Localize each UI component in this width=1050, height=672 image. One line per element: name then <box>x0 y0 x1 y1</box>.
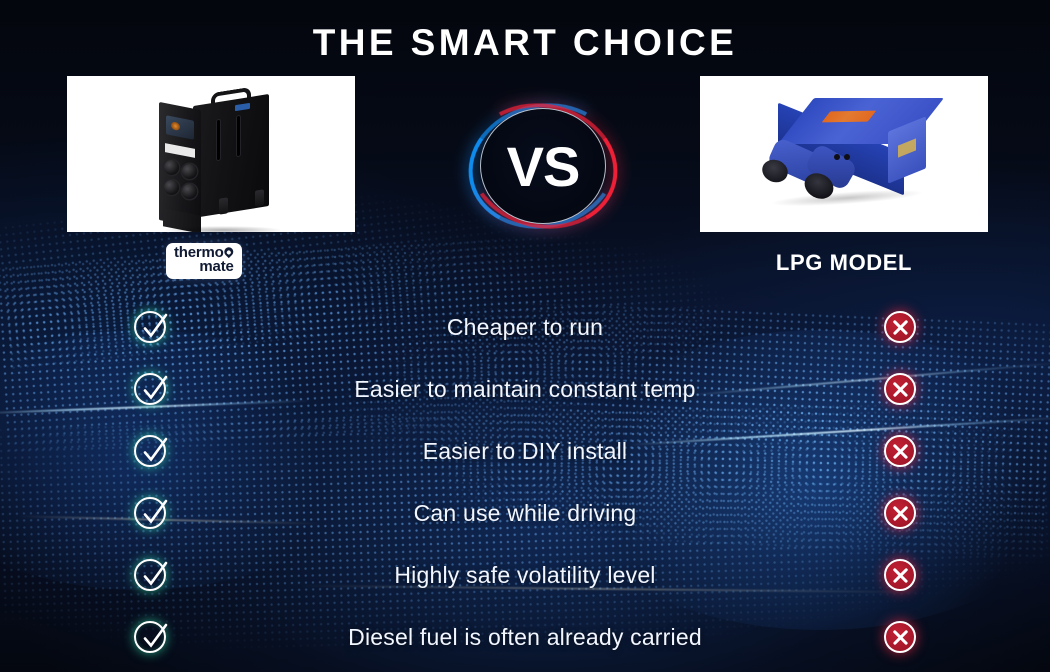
right-brand-label: LPG MODEL <box>700 250 988 276</box>
cross-circle-icon <box>884 435 916 467</box>
feature-label: Cheaper to run <box>300 314 750 341</box>
right-verdict-cell <box>750 435 1050 467</box>
comparison-row: Highly safe volatility level <box>0 544 1050 606</box>
comparison-row: Cheaper to run <box>0 296 1050 358</box>
versus-label: VS <box>480 108 606 224</box>
cross-circle-icon <box>884 373 916 405</box>
brand-line-2: mate <box>174 260 234 274</box>
feature-label: Can use while driving <box>300 500 750 527</box>
feature-label: Diesel fuel is often already carried <box>300 624 750 651</box>
comparison-row: Can use while driving <box>0 482 1050 544</box>
feature-label: Easier to maintain constant temp <box>300 376 750 403</box>
check-circle-icon <box>134 621 166 653</box>
cross-circle-icon <box>884 311 916 343</box>
left-brand-logo: thermo mate <box>166 243 242 279</box>
check-circle-icon <box>134 559 166 591</box>
check-circle-icon <box>134 311 166 343</box>
left-verdict-cell <box>0 311 300 343</box>
feature-label: Highly safe volatility level <box>300 562 750 589</box>
right-verdict-cell <box>750 559 1050 591</box>
diesel-heater-illustration <box>159 90 287 220</box>
check-circle-icon <box>134 373 166 405</box>
left-verdict-cell <box>0 373 300 405</box>
versus-badge: VS <box>468 98 618 232</box>
left-verdict-cell <box>0 497 300 529</box>
cross-circle-icon <box>884 621 916 653</box>
cross-circle-icon <box>884 497 916 529</box>
lpg-heater-illustration <box>760 98 940 214</box>
page-title: THE SMART CHOICE <box>0 22 1050 64</box>
right-verdict-cell <box>750 497 1050 529</box>
cross-circle-icon <box>884 559 916 591</box>
right-product-image <box>700 76 988 232</box>
left-verdict-cell <box>0 435 300 467</box>
comparison-row: Easier to maintain constant temp <box>0 358 1050 420</box>
check-circle-icon <box>134 497 166 529</box>
right-verdict-cell <box>750 373 1050 405</box>
left-verdict-cell <box>0 559 300 591</box>
left-verdict-cell <box>0 621 300 653</box>
right-verdict-cell <box>750 311 1050 343</box>
comparison-row: Diesel fuel is often already carried <box>0 606 1050 668</box>
feature-label: Easier to DIY install <box>300 438 750 465</box>
left-product-image <box>67 76 355 232</box>
right-verdict-cell <box>750 621 1050 653</box>
check-circle-icon <box>134 435 166 467</box>
comparison-table: Cheaper to run Easier to maintain consta… <box>0 296 1050 668</box>
infographic-canvas: THE SMART CHOICE <box>0 0 1050 672</box>
comparison-row: Easier to DIY install <box>0 420 1050 482</box>
